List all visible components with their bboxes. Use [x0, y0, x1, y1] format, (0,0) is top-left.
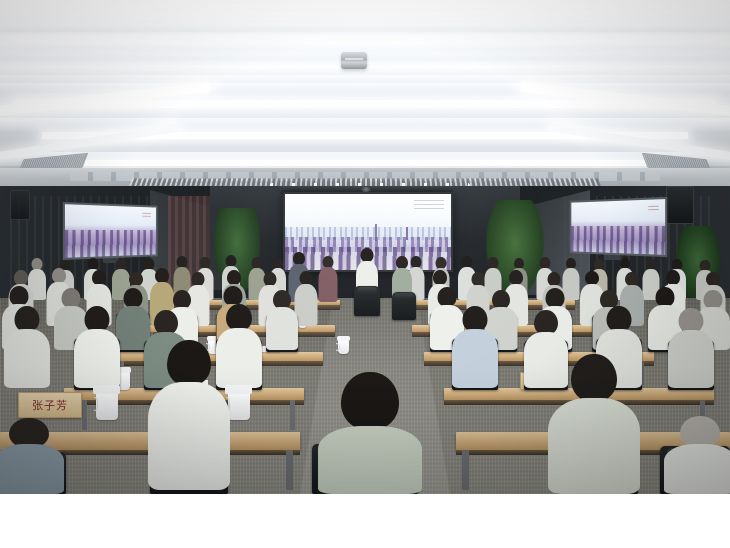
ceiling-band: [0, 26, 730, 32]
wall-speaker-left-icon: [10, 190, 30, 220]
screen-tower: [406, 227, 408, 239]
head: [226, 304, 252, 331]
head: [471, 272, 484, 286]
head: [656, 287, 675, 307]
head: [167, 340, 211, 386]
attendee: [668, 308, 714, 388]
head: [666, 270, 680, 285]
torso: [266, 307, 298, 350]
torso: [664, 444, 730, 494]
head: [438, 287, 457, 307]
head: [10, 286, 29, 306]
attendee-foreground: [148, 340, 230, 490]
conference-room-photo: 李明: [0, 0, 730, 494]
side-screen-logo: [648, 204, 658, 211]
attendee: [74, 306, 120, 388]
head: [62, 288, 81, 308]
head: [571, 354, 617, 402]
side-screen-left: [63, 202, 158, 260]
teacup: [228, 392, 250, 420]
screen-logo: [414, 200, 444, 209]
head: [706, 272, 720, 286]
torso: [4, 329, 50, 388]
attendee-foreground: [0, 418, 64, 494]
head: [14, 270, 28, 285]
attendee: [318, 256, 337, 302]
page-whitespace: [0, 494, 730, 548]
table-leg: [82, 400, 87, 430]
nameplate-front-left: 张子芳: [18, 392, 82, 418]
head: [546, 288, 565, 308]
chair: [354, 286, 380, 316]
head: [361, 248, 374, 262]
wall-speaker-right-icon: [666, 186, 694, 224]
torso: [74, 329, 120, 388]
torso: [318, 267, 337, 302]
screenshot-root: 李明: [0, 0, 730, 548]
table-leg: [290, 400, 295, 430]
attendee-foreground: [664, 416, 730, 494]
attendee: [4, 306, 50, 388]
teacup: [96, 392, 118, 420]
teacup: [338, 340, 349, 354]
head: [299, 271, 312, 285]
attendee-foreground-center: [318, 372, 422, 494]
head: [547, 272, 560, 286]
head: [585, 271, 599, 285]
torso: [668, 330, 714, 388]
torso: [0, 444, 64, 494]
head: [124, 288, 143, 308]
head: [625, 272, 639, 286]
head: [263, 272, 276, 286]
torso: [318, 426, 422, 494]
head: [155, 268, 169, 283]
side-screen-right: [570, 197, 668, 257]
head: [433, 270, 447, 285]
screen-tower: [375, 224, 377, 241]
head: [129, 272, 143, 286]
ceiling: [0, 0, 730, 186]
ceiling-light-strip: [66, 160, 664, 166]
side-screen-logo: [143, 211, 151, 217]
attendee-foreground: [548, 354, 640, 494]
torso: [148, 382, 230, 490]
head: [223, 286, 242, 306]
head: [227, 270, 241, 285]
table-leg: [286, 450, 293, 490]
head: [341, 372, 399, 430]
torso: [452, 329, 498, 388]
head: [52, 268, 66, 283]
torso: [548, 398, 640, 494]
attendee: [266, 290, 298, 350]
head: [509, 270, 523, 285]
teacup-lid: [93, 385, 120, 394]
ceiling-light-strip: [0, 36, 730, 44]
table-leg: [462, 450, 469, 490]
chair: [392, 292, 416, 320]
ceiling-projector-icon: [341, 52, 367, 69]
attendee: [452, 306, 498, 388]
head: [191, 272, 204, 286]
ceiling-band: [0, 118, 730, 131]
head: [92, 270, 106, 285]
teacup-lid: [337, 336, 350, 341]
